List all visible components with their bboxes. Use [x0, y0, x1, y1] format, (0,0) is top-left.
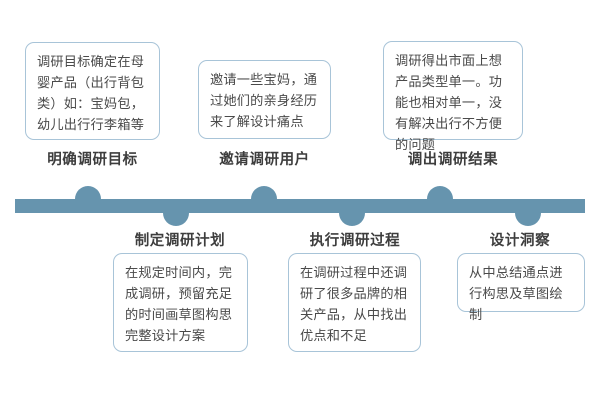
- timeline-bar: [15, 199, 585, 213]
- stage-title-1: 明确调研目标: [25, 148, 160, 169]
- timeline-marker-4: [339, 213, 365, 226]
- stage-title-4: 执行调研过程: [285, 229, 425, 250]
- stage-box-4: 在调研过程中还调研了很多品牌的相关产品，从中找出优点和不足: [288, 253, 421, 352]
- stage-box-1: 调研目标确定在母婴产品（出行背包类）如：宝妈包，幼儿出行行李箱等: [25, 42, 160, 140]
- stage-title-6: 设计洞察: [455, 229, 585, 250]
- stage-title-2: 制定调研计划: [110, 229, 250, 250]
- timeline-marker-6: [515, 213, 541, 226]
- timeline-marker-2: [163, 213, 189, 226]
- stage-title-3: 邀请调研用户: [198, 148, 331, 169]
- timeline-marker-1: [75, 186, 101, 199]
- stage-box-2: 在规定时间内，完成调研，预留充足的时间画草图构思完整设计方案: [113, 253, 248, 352]
- stage-box-5: 调研得出市面上想产品类型单一。功能也相对单一，没有解决出行不方便的问题: [383, 41, 523, 140]
- timeline-marker-5: [427, 186, 453, 199]
- stage-title-5: 调出调研结果: [383, 148, 523, 169]
- timeline-diagram: 调研目标确定在母婴产品（出行背包类）如：宝妈包，幼儿出行行李箱等 邀请一些宝妈，…: [0, 0, 600, 400]
- timeline-marker-3: [251, 186, 277, 199]
- stage-box-6: 从中总结通点进行构思及草图绘制: [457, 253, 585, 312]
- stage-box-3: 邀请一些宝妈，通过她们的亲身经历来了解设计痛点: [198, 60, 331, 139]
